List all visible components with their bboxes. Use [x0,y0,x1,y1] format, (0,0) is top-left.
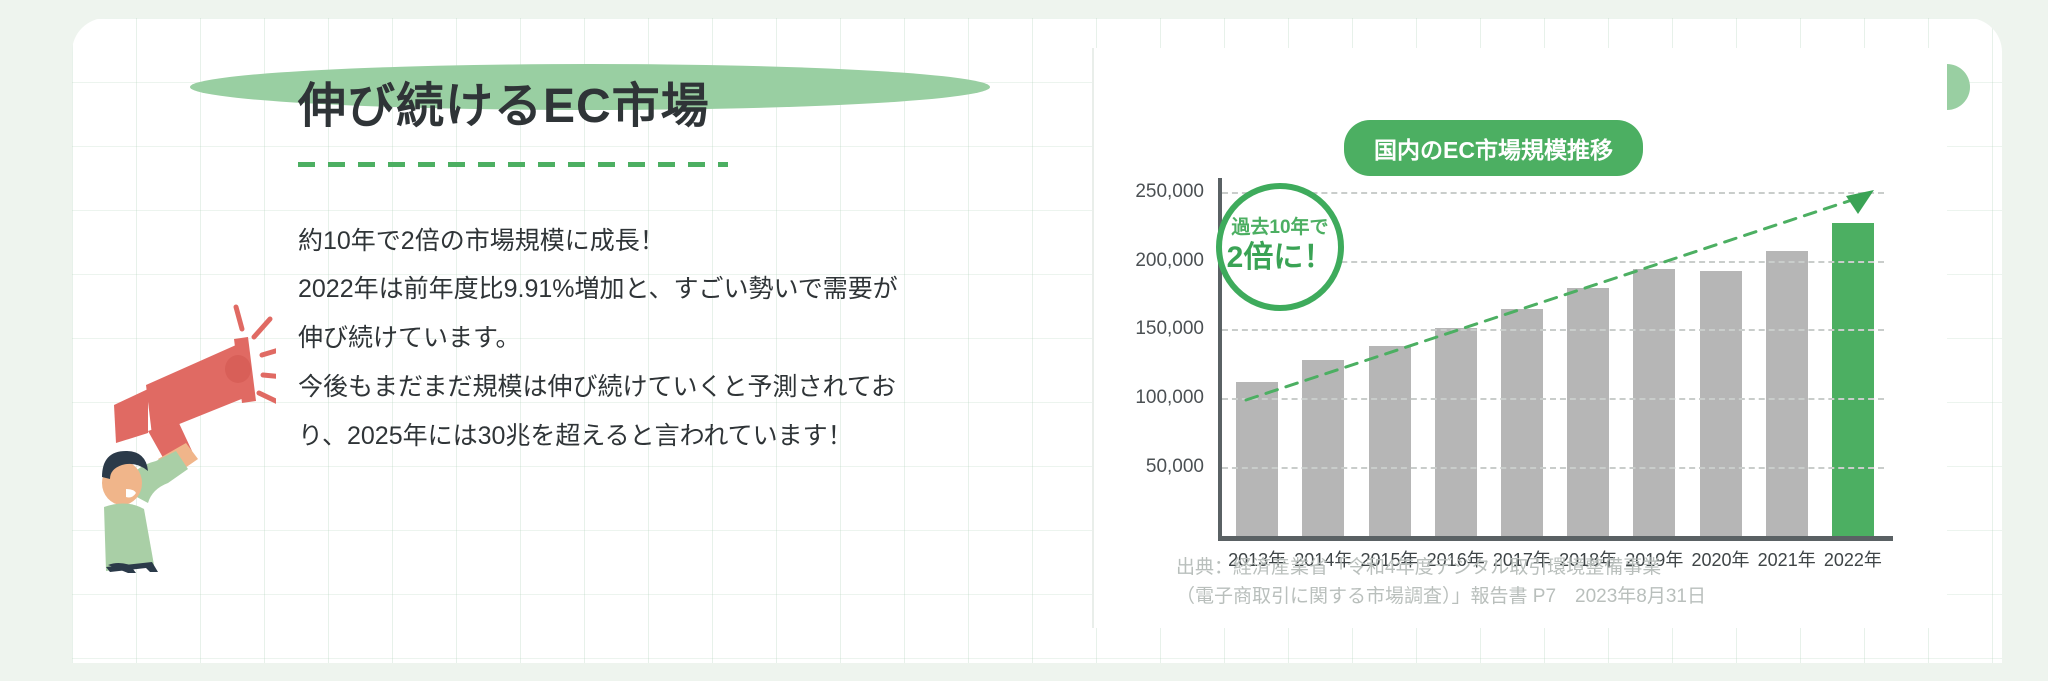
x-tick-label: 2021年 [1758,546,1816,572]
body-line-5: り、2025年には30兆を超えると言われています！ [298,412,1032,461]
person-with-megaphone-illustration [86,293,276,573]
y-axis-labels: 50,000100,000150,000200,000250,000 [1094,148,1212,508]
person-figure [102,443,198,573]
callout-line-1: 過去10年で [1231,218,1328,239]
body-line-4: 今後もまだまだ規模は伸び続けていくと予測されてお [298,363,1032,412]
bar [1766,251,1808,536]
y-tick-label: 200,000 [1135,250,1204,272]
body-line-2: 2022年は前年度比9.91%増加と、すごい勢いで需要が [298,265,1032,314]
bar [1700,271,1742,536]
bar [1567,288,1609,536]
y-tick-label: 250,000 [1135,181,1204,203]
gridline [1222,192,1884,194]
body-paragraph: 約10年で2倍の市場規模に成長！ 2022年は前年度比9.91%増加と、すごい勢… [298,217,1032,461]
source-note: 出典：経済産業省「令和4年度デジタル取引環境整備事業 （電子商取引に関する市場調… [1176,553,1706,612]
bar [1435,328,1477,536]
growth-callout-badge: 過去10年で 2倍に！ [1216,183,1344,311]
x-tick-label: 2022年 [1824,546,1882,572]
bar [1236,382,1278,536]
content-card: 伸び続けるEC市場 約10年で2倍の市場規模に成長！ 2022年は前年度比9.9… [72,18,2002,663]
bar [1369,346,1411,536]
body-line-1: 約10年で2倍の市場規模に成長！ [298,217,1032,266]
gridline [1222,329,1884,331]
bar [1832,223,1874,536]
left-column: 伸び続けるEC市場 約10年で2倍の市場規模に成長！ 2022年は前年度比9.9… [232,78,1032,460]
chart-plot-area: 50,000100,000150,000200,000250,000 2013年… [1094,148,1949,548]
page-title: 伸び続けるEC市場 [298,78,1032,136]
gridline [1222,467,1884,469]
slide-canvas: 伸び続けるEC市場 約10年で2倍の市場規模に成長！ 2022年は前年度比9.9… [0,0,2048,681]
chart-panel: 国内のEC市場規模推移 50,000100,000150,000200,0002… [1092,48,1947,628]
title-dashed-underline [298,162,728,167]
body-line-3: 伸び続けています。 [298,314,1032,363]
megaphone-icon [114,307,276,463]
y-tick-label: 100,000 [1135,387,1204,409]
bar [1302,360,1344,536]
bar [1633,269,1675,536]
callout-line-2: 2倍に！ [1227,241,1334,276]
gridline [1222,398,1884,400]
y-tick-label: 50,000 [1146,456,1204,478]
y-tick-label: 150,000 [1135,318,1204,340]
bar [1501,309,1543,536]
